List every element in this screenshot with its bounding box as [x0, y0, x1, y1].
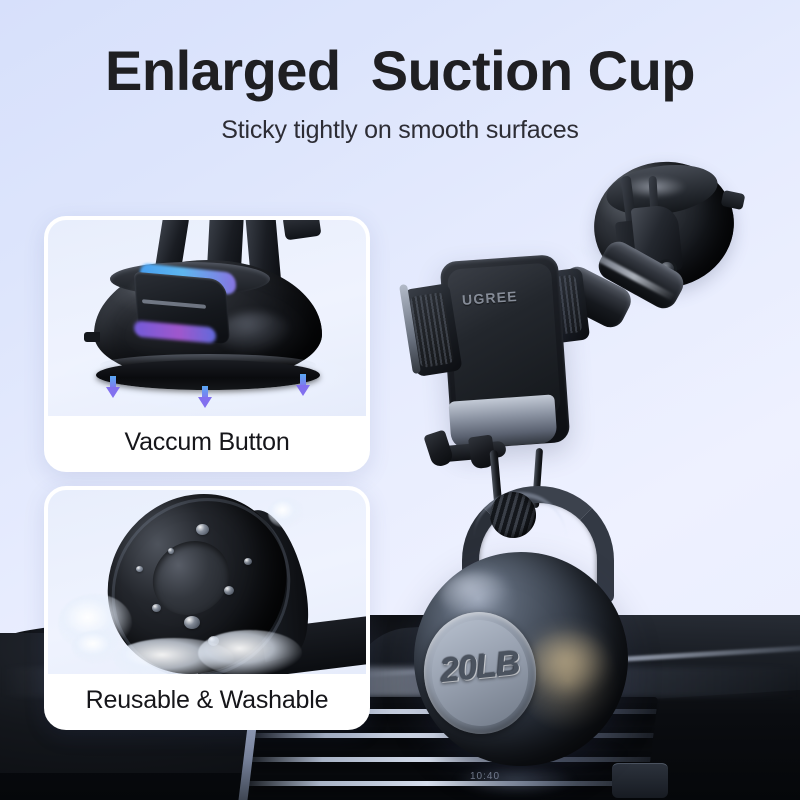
feature-caption-washable: Reusable & Washable: [48, 674, 366, 726]
down-arrow-icon: [198, 386, 212, 408]
dome-side-nub: [84, 332, 100, 342]
feature-photo-washable: [48, 490, 366, 674]
water-droplet-icon: [136, 566, 143, 572]
feature-caption-vacuum: Vaccum Button: [48, 416, 366, 468]
water-splash: [198, 630, 302, 674]
water-droplet-icon: [152, 604, 161, 612]
feature-photo-vacuum: [48, 220, 366, 416]
down-arrow-icon: [106, 376, 120, 398]
water-droplet-icon: [224, 586, 234, 595]
water-droplet-icon: [184, 616, 200, 629]
water-droplet-icon: [168, 548, 174, 554]
cradle-silver-plate: [448, 394, 557, 449]
water-droplet-icon: [196, 524, 209, 535]
kettlebell-gloss: [440, 572, 510, 616]
water-splash: [268, 498, 304, 528]
inset-arm-cap: [283, 220, 322, 240]
feature-card-vacuum-button[interactable]: Vaccum Button: [44, 216, 370, 472]
feature-card-reusable-washable[interactable]: Reusable & Washable: [44, 486, 370, 730]
water-droplet-icon: [244, 558, 252, 565]
product-feature-banner: 10:40 Enlarged Suction Cup Sticky tightl…: [0, 0, 800, 800]
down-arrow-icon: [296, 374, 310, 396]
